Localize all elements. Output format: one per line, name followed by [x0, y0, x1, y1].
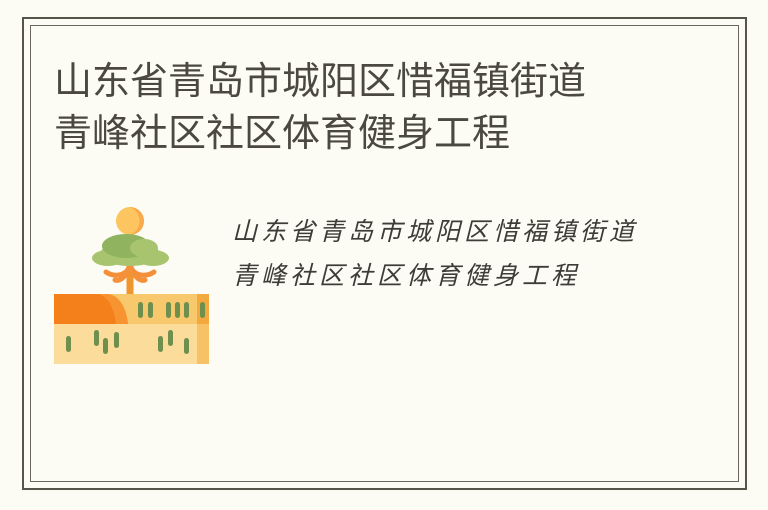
handwritten-subtitle: 山东省青岛市城阳区惜福镇街道 青峰社区社区体育健身工程 [232, 210, 692, 298]
sun-icon [116, 207, 144, 235]
page-title: 山东省青岛市城阳区惜福镇街道 青峰社区社区体育健身工程 [54, 56, 694, 160]
content-row: 山东省青岛市城阳区惜福镇街道 青峰社区社区体育健身工程 [54, 196, 694, 376]
title-card: 山东省青岛市城阳区惜福镇街道 青峰社区社区体育健身工程 [0, 0, 768, 510]
park-landscape-illustration [54, 196, 224, 368]
